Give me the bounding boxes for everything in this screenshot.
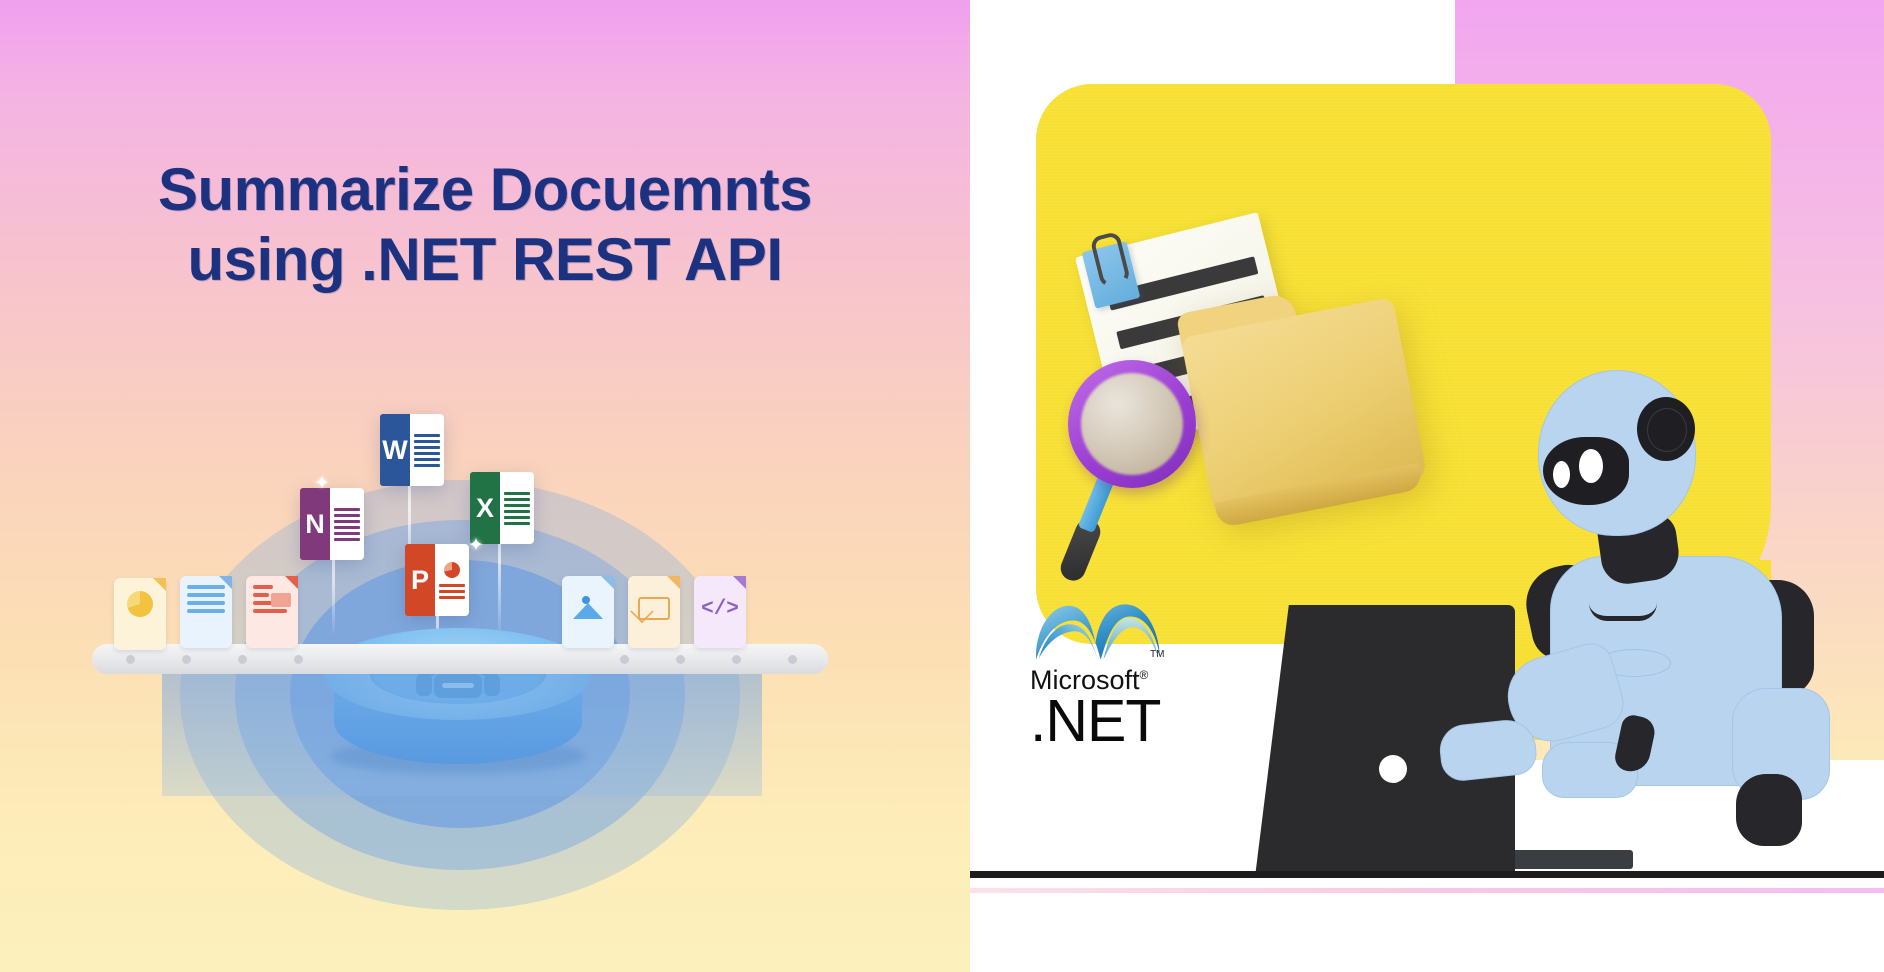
page-fold-corner <box>601 576 614 589</box>
belt-roller <box>620 655 629 664</box>
file-card-text-document <box>180 576 232 648</box>
magnifying-glass-icon <box>1060 360 1210 580</box>
excel-grid <box>500 472 534 544</box>
magnifier-lens-ring <box>1068 360 1196 488</box>
word-letter: W <box>380 414 410 486</box>
robot-elbow-joint <box>1736 774 1802 846</box>
robot-eye-left <box>1553 461 1570 488</box>
office-icon-powerpoint: P <box>405 544 469 616</box>
conveyor-belt <box>92 644 828 674</box>
article-thumbnail-icon <box>271 593 291 607</box>
powerpoint-letter: P <box>405 544 435 616</box>
trademark-mark: TM <box>1150 649 1164 660</box>
belt-roller <box>294 655 303 664</box>
file-card-article <box>246 576 298 648</box>
banner-canvas: Summarize Docuemnts using .NET REST API … <box>0 0 1884 972</box>
robot-head <box>1538 370 1696 536</box>
right-panel: TM Microsoft® .NET <box>970 0 1884 972</box>
word-sheet <box>410 414 444 486</box>
excel-letter: X <box>470 472 500 544</box>
belt-roller <box>788 655 797 664</box>
dotnet-logo: TM Microsoft® .NET <box>1030 595 1210 749</box>
file-card-pie-chart <box>114 578 166 650</box>
file-card-code: </> <box>694 576 746 648</box>
pie-chart-icon <box>444 562 460 578</box>
sparkle-icon: ✦ <box>314 474 330 493</box>
office-icon-excel: X <box>470 472 534 544</box>
office-icon-word: W <box>380 414 444 486</box>
dotnet-swoosh-icon <box>1030 595 1166 665</box>
robot-ear-module <box>1637 397 1695 461</box>
conveyor-base <box>162 668 762 796</box>
robot-hand-left <box>1437 717 1538 783</box>
file-card-image <box>562 576 614 648</box>
robot-visor <box>1543 437 1629 505</box>
robot-character <box>1490 370 1884 890</box>
left-panel: Summarize Docuemnts using .NET REST API … <box>0 0 970 972</box>
onenote-sheet <box>330 488 364 560</box>
belt-roller <box>238 655 247 664</box>
document-search-illustration <box>1060 200 1480 620</box>
document-pipeline-illustration: W N X P <box>100 460 820 880</box>
page-fold-corner <box>733 576 746 589</box>
page-fold-corner <box>285 576 298 589</box>
sparkle-icon: ✦ <box>468 536 484 555</box>
robot-chest-detail <box>1589 603 1657 621</box>
dotnet-wordmark: .NET <box>1030 694 1210 749</box>
office-icon-onenote: N <box>300 488 364 560</box>
page-fold-corner <box>219 576 232 589</box>
envelope-icon <box>638 597 670 620</box>
code-icon: </> <box>701 599 739 620</box>
laptop-logo-icon <box>1379 755 1407 783</box>
pie-chart-icon <box>127 591 153 617</box>
page-fold-corner <box>153 578 166 591</box>
page-title: Summarize Docuemnts using .NET REST API <box>0 155 970 295</box>
magnifier-glass <box>1081 373 1183 475</box>
onenote-letter: N <box>300 488 330 560</box>
image-icon <box>573 595 603 619</box>
belt-roller <box>126 655 135 664</box>
belt-roller <box>182 655 191 664</box>
folder-icon <box>1176 273 1428 522</box>
belt-roller <box>676 655 685 664</box>
robot-eye-right <box>1579 449 1603 483</box>
page-fold-corner <box>667 576 680 589</box>
belt-roller <box>732 655 741 664</box>
baseline-accent-line <box>970 888 1884 893</box>
powerpoint-slide <box>435 544 469 616</box>
file-card-email <box>628 576 680 648</box>
